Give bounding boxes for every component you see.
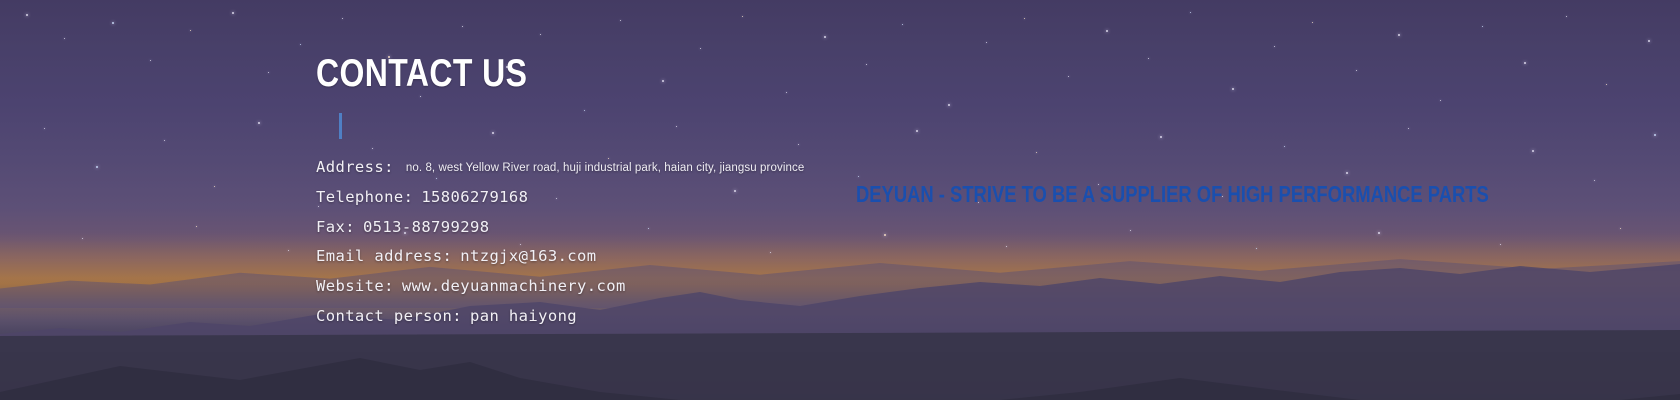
- contact-person-value: pan haiyong: [470, 308, 577, 324]
- contact-footer-banner: CONTACT US Address: no. 8, west Yellow R…: [0, 0, 1680, 400]
- page-title: CONTACT US: [316, 54, 775, 93]
- company-slogan: DEYUAN - STRIVE TO BE A SUPPLIER OF HIGH…: [856, 183, 1489, 206]
- website-label: Website:: [316, 278, 394, 294]
- address-label: Address:: [316, 159, 394, 175]
- address-value: no. 8, west Yellow River road, huji indu…: [406, 162, 804, 174]
- website-value[interactable]: www.deyuanmachinery.com: [402, 278, 626, 294]
- contact-row-email: Email address: ntzgjx@163.com: [316, 248, 876, 264]
- contact-row-website: Website: www.deyuanmachinery.com: [316, 278, 876, 294]
- fax-label: Fax:: [316, 219, 355, 235]
- contact-row-address: Address: no. 8, west Yellow River road, …: [316, 159, 876, 175]
- fax-value: 0513-88799298: [363, 219, 490, 235]
- banner-content: CONTACT US Address: no. 8, west Yellow R…: [0, 0, 1680, 400]
- contact-row-person: Contact person: pan haiyong: [316, 308, 876, 324]
- contact-row-telephone: Telephone: 15806279168: [316, 189, 876, 205]
- contact-info-block: CONTACT US Address: no. 8, west Yellow R…: [316, 54, 876, 338]
- email-label: Email address:: [316, 248, 452, 264]
- heading-accent-rule: [339, 113, 342, 139]
- email-value[interactable]: ntzgjx@163.com: [460, 248, 596, 264]
- contact-person-label: Contact person:: [316, 308, 462, 324]
- telephone-label: Telephone:: [316, 189, 413, 205]
- contact-details-list: Address: no. 8, west Yellow River road, …: [316, 159, 876, 324]
- telephone-value[interactable]: 15806279168: [421, 189, 528, 205]
- contact-row-fax: Fax: 0513-88799298: [316, 219, 876, 235]
